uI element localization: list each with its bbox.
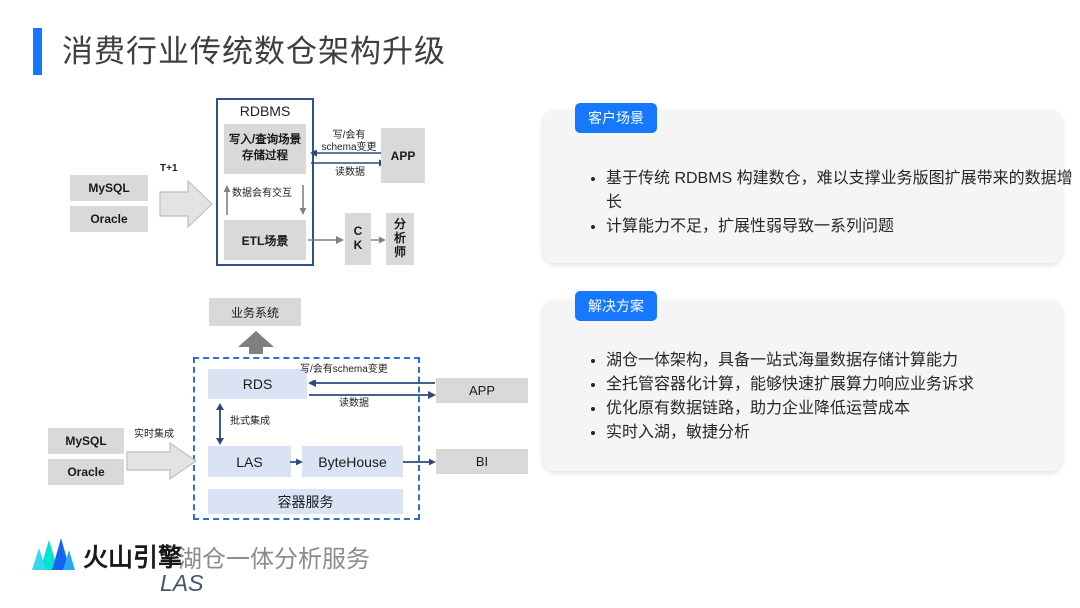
read-data-label-bottom: 读数据	[339, 398, 369, 410]
analyst-char-3: 师	[394, 246, 406, 260]
list-item: 实时入湖，敏捷分析	[606, 418, 1080, 442]
read-data-label-top: 读数据	[322, 167, 378, 179]
data-interaction-label: 数据会有交互	[232, 188, 292, 200]
business-system-box: 业务系统	[209, 298, 301, 326]
realtime-integration-label: 实时集成	[134, 429, 174, 441]
bottom-source-mysql: MySQL	[48, 428, 124, 454]
list-item: 基于传统 RDBMS 构建数仓，难以支撑业务版图扩展带来的数据增长	[606, 164, 1080, 212]
logo-product-text: 湖仓一体分析服务	[178, 539, 370, 574]
top-source-oracle: Oracle	[70, 206, 148, 232]
batch-integration-label: 批式集成	[230, 416, 270, 428]
top-app-box: APP	[381, 128, 425, 183]
app-exchange-arrows-icon	[309, 150, 387, 168]
write-query-line-1: 写入/查询场景	[229, 133, 301, 149]
bottom-source-oracle: Oracle	[48, 459, 124, 485]
container-service-box: 容器服务	[208, 489, 403, 514]
rdbms-title: RDBMS	[216, 103, 314, 119]
write-schema-label-bottom: 写/会有schema变更	[300, 364, 388, 376]
title-accent-bar	[33, 28, 42, 75]
bytehouse-box: ByteHouse	[302, 446, 403, 477]
top-source-mysql: MySQL	[70, 175, 148, 201]
analyst-char-2: 析	[394, 232, 406, 246]
ck-line-1: C	[354, 225, 363, 239]
customer-scenario-list: 基于传统 RDBMS 构建数仓，难以支撑业务版图扩展带来的数据增长 计算能力不足…	[566, 164, 1080, 236]
bottom-bi-box: BI	[436, 449, 528, 474]
logo-product-abbr: LAS	[160, 570, 203, 597]
ck-box: C K	[345, 213, 371, 265]
customer-scenario-badge: 客户场景	[575, 103, 657, 133]
volcano-engine-logo-icon	[30, 536, 78, 570]
list-item: 全托管容器化计算，能够快速扩展算力响应业务诉求	[606, 370, 1080, 394]
batch-integration-arrow-icon	[213, 403, 227, 445]
top-flow-label-t1: T+1	[160, 163, 178, 175]
bottom-app-box: APP	[436, 378, 528, 403]
logo-brand-text: 火山引擎	[83, 538, 183, 574]
business-system-up-arrow-icon	[236, 331, 276, 355]
bytehouse-to-bi-arrow-icon	[403, 456, 437, 468]
list-item: 计算能力不足，扩展性弱导致一系列问题	[606, 212, 1080, 236]
las-to-bytehouse-arrow-icon	[290, 456, 304, 468]
etl-to-ck-arrow-icon	[308, 234, 345, 246]
write-query-line-2: 存储过程	[242, 149, 288, 165]
solution-badge: 解决方案	[575, 291, 657, 321]
ck-line-2: K	[354, 239, 363, 253]
top-block-arrow-icon	[158, 176, 214, 232]
write-query-scenario-box: 写入/查询场景 存储过程	[224, 124, 306, 174]
ck-to-analyst-arrow-icon	[371, 234, 387, 246]
page-title: 消费行业传统数仓架构升级	[62, 28, 446, 75]
etl-scenario-box: ETL场景	[224, 220, 306, 260]
solution-list: 湖仓一体架构，具备一站式海量数据存储计算能力 全托管容器化计算，能够快速扩展算力…	[566, 346, 1080, 442]
list-item: 湖仓一体架构，具备一站式海量数据存储计算能力	[606, 346, 1080, 370]
analyst-box: 分 析 师	[386, 213, 414, 265]
bottom-block-arrow-icon	[126, 441, 198, 481]
las-box: LAS	[208, 446, 291, 477]
rds-app-exchange-arrows-icon	[307, 380, 437, 402]
list-item: 优化原有数据链路，助力企业降低运营成本	[606, 394, 1080, 418]
rds-box: RDS	[208, 369, 307, 399]
write-schema-line-1: 写/会有	[316, 130, 382, 142]
